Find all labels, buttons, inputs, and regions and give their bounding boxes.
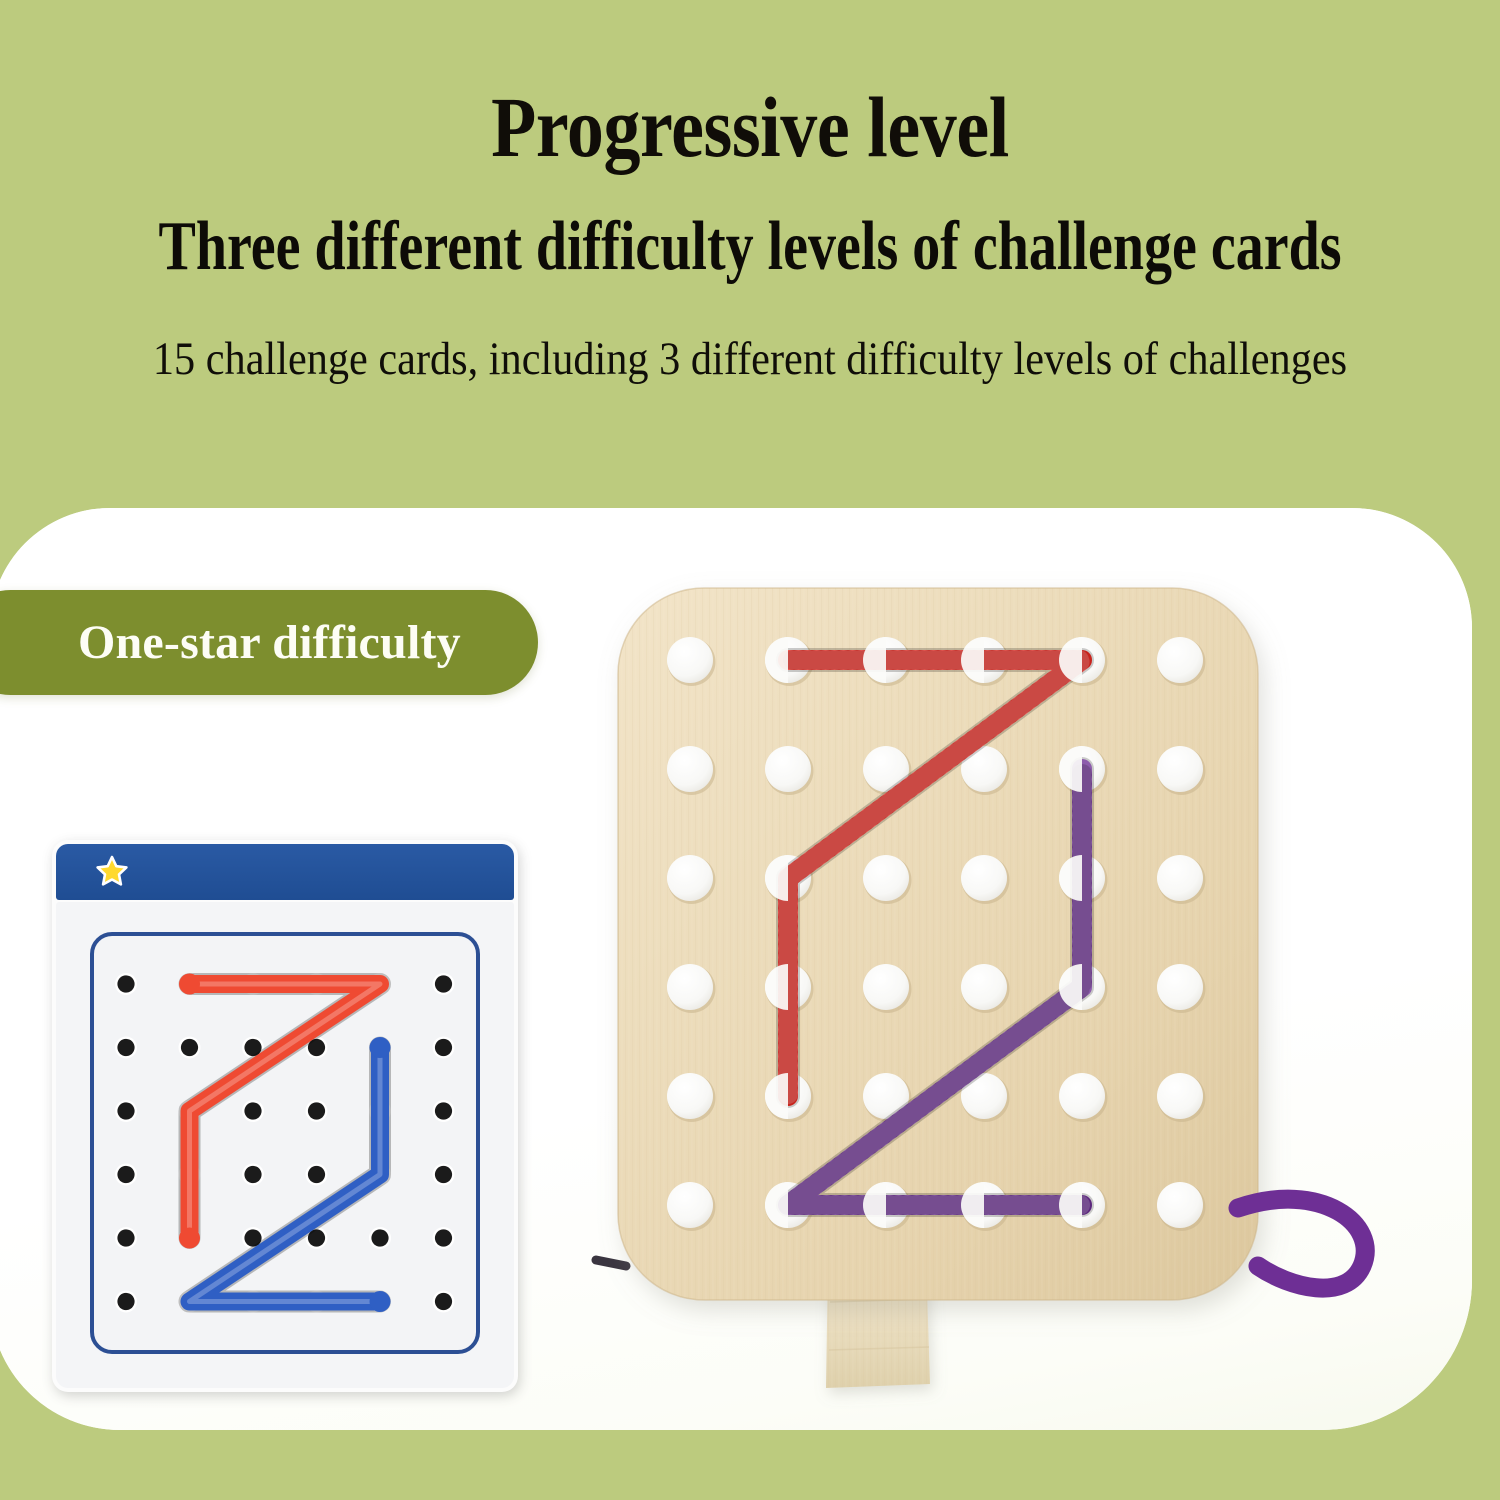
difficulty-badge-label: One-star difficulty: [78, 590, 461, 695]
pegboard-hole: [1157, 855, 1203, 901]
product-marketing-image: Progressive level Three different diffic…: [0, 0, 1500, 1500]
card-grid-dot: [244, 1102, 261, 1119]
page-note: 15 challenge cards, including 3 differen…: [75, 336, 1425, 383]
pegboard-photo: [590, 560, 1500, 1440]
card-grid-dot: [181, 1039, 198, 1056]
pegboard-hole: [961, 964, 1007, 1010]
card-grid-dot: [435, 1166, 452, 1183]
card-grid-dot: [117, 1166, 134, 1183]
bottom-green-strip: [0, 1436, 1500, 1500]
card-grid-dot: [435, 1102, 452, 1119]
pegboard-hole: [961, 855, 1007, 901]
pegboard-hole: [765, 746, 811, 792]
difficulty-badge: One-star difficulty: [0, 590, 538, 695]
pegboard-hole: [1157, 964, 1203, 1010]
card-grid-dot: [308, 1102, 325, 1119]
pegboard-hole: [1157, 746, 1203, 792]
pegboard-hole: [667, 1182, 713, 1228]
card-grid-dot: [435, 1039, 452, 1056]
card-grid-dot: [435, 1293, 452, 1310]
card-grid-dot: [117, 1229, 134, 1246]
challenge-card: [52, 840, 518, 1392]
pegboard-hole: [667, 637, 713, 683]
page-subtitle: Three different difficulty levels of cha…: [150, 212, 1350, 282]
header-block: Progressive level Three different diffic…: [0, 0, 1500, 500]
pegboard-hole: [1059, 1073, 1105, 1119]
card-grid-dot: [435, 975, 452, 992]
pegboard-hole: [667, 964, 713, 1010]
pegboard-hole: [863, 855, 909, 901]
card-grid-dot: [117, 1039, 134, 1056]
pegboard-hole: [667, 855, 713, 901]
loose-cord-tip: [596, 1260, 626, 1266]
card-grid-dot: [117, 975, 134, 992]
card-grid-dot: [244, 1166, 261, 1183]
pegboard-hole: [667, 1073, 713, 1119]
pegboard-hole: [863, 964, 909, 1010]
card-grid-dot: [308, 1166, 325, 1183]
pegboard-hole: [667, 746, 713, 792]
pegboard-hole: [1157, 1073, 1203, 1119]
pegboard-hole: [1157, 1182, 1203, 1228]
card-grid-dot: [117, 1293, 134, 1310]
page-title: Progressive level: [105, 84, 1395, 170]
pegboard-illustration: [590, 560, 1500, 1440]
pegboard-hole: [1157, 637, 1203, 683]
card-grid-dot: [117, 1102, 134, 1119]
card-grid-dot: [371, 1229, 388, 1246]
challenge-card-diagram: [52, 840, 518, 1392]
card-grid-dot: [435, 1229, 452, 1246]
